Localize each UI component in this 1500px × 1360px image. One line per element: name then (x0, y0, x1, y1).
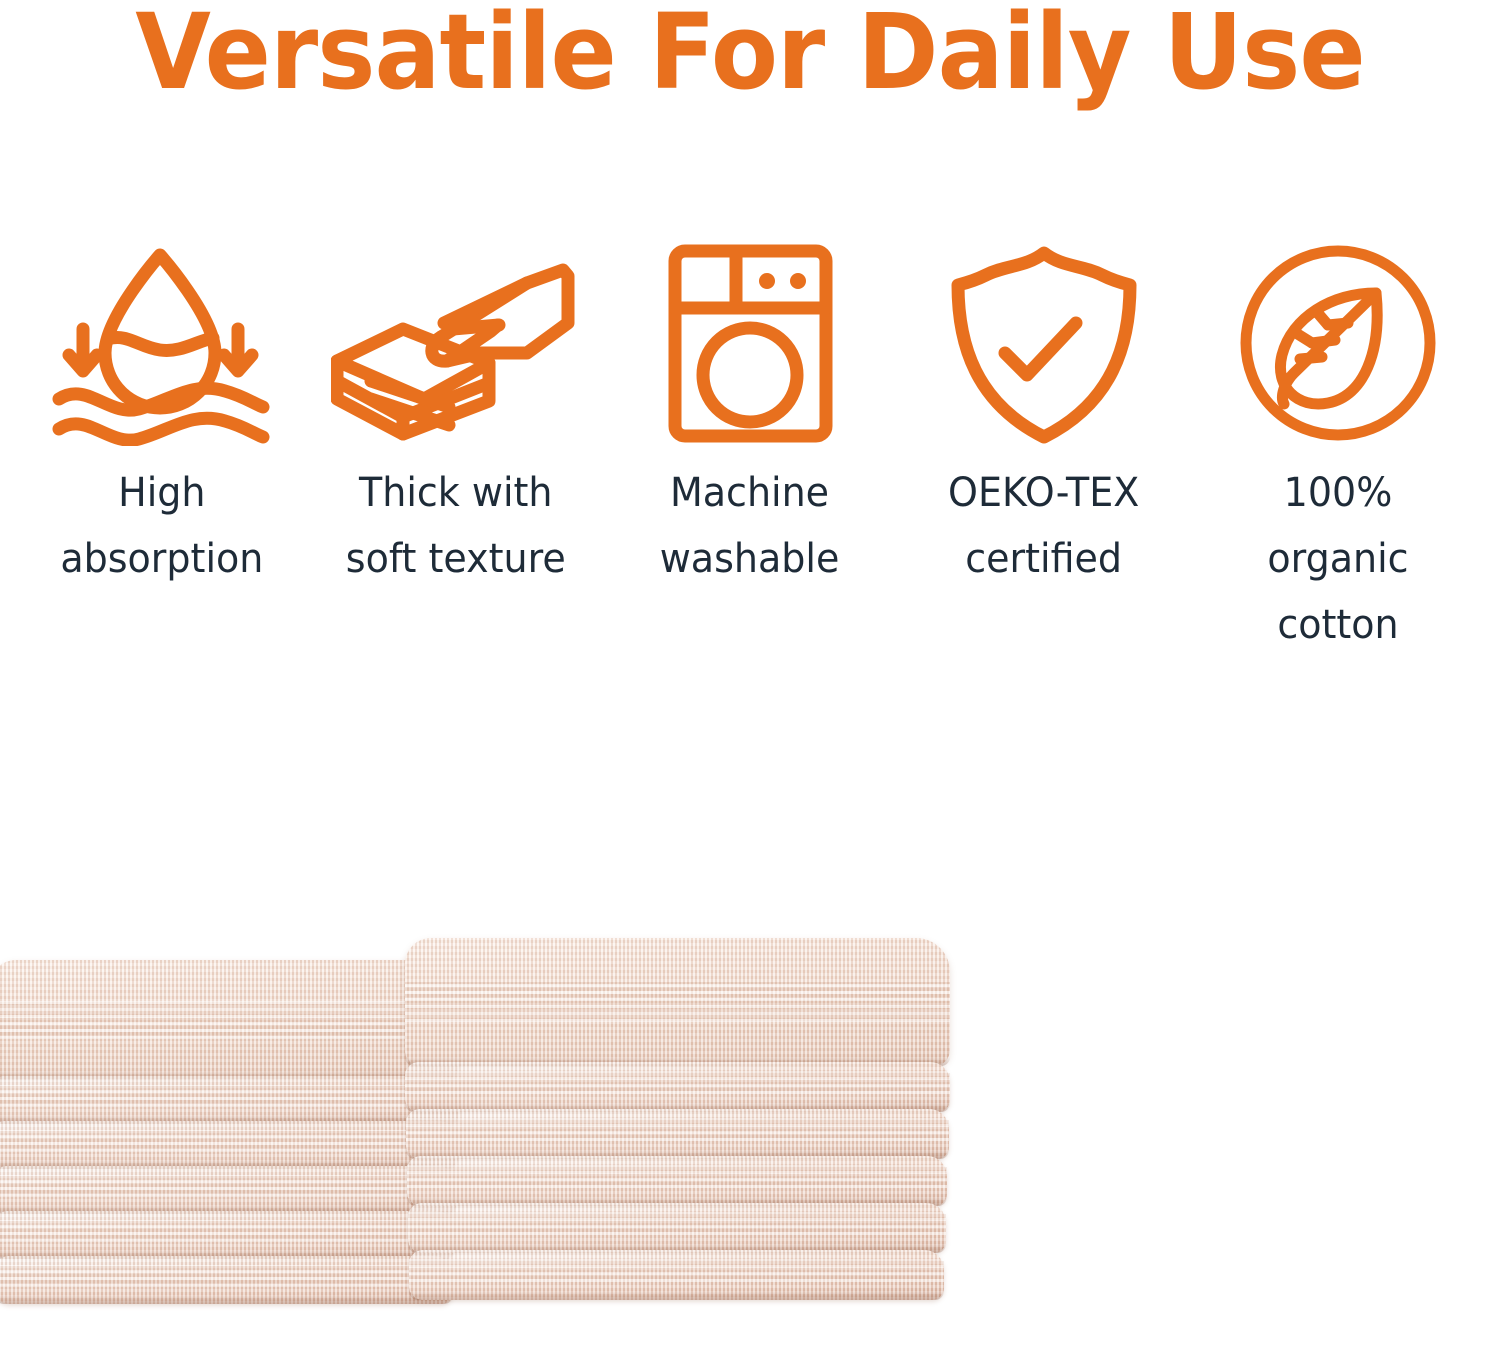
towel-dobby-band (405, 1071, 950, 1094)
towel-folded-layer (0, 1121, 458, 1169)
towel-stack-right (405, 938, 965, 1318)
feature-item-high-absorption: High absorption (22, 238, 302, 592)
towel-edge-shadow (0, 1295, 453, 1304)
towel-dobby-band (409, 1259, 944, 1282)
towel-folded-top (0, 960, 460, 1080)
feature-item-oeko-tex-certified: OEKO-TEX certified (904, 238, 1184, 592)
feature-label-line1: High (118, 470, 205, 516)
feature-list: High absorption (0, 238, 1500, 618)
towel-dobby-band (408, 1212, 946, 1235)
washing-machine-icon (663, 238, 838, 448)
page-title: Versatile For Daily Use (45, 0, 1455, 112)
leaf-in-circle-icon (1236, 238, 1441, 448)
towel-folded-layer (409, 1250, 944, 1300)
towel-edge-shadow (409, 1291, 944, 1300)
feature-label-line1: 100% organic (1267, 470, 1408, 582)
feature-item-machine-washable: Machine washable (610, 238, 890, 592)
towel-dobby-band (0, 1175, 457, 1197)
towel-folded-layer (0, 1256, 453, 1304)
feature-label-soft-texture: Thick with soft texture (346, 460, 566, 592)
feature-label-organic-cotton: 100% organic cotton (1210, 460, 1467, 658)
feature-label-line1: Machine (670, 470, 829, 516)
feature-label-high-absorption: High absorption (60, 460, 263, 592)
towel-folded-layer (407, 1156, 947, 1206)
feature-item-soft-texture: Thick with soft texture (316, 238, 596, 592)
towel-stack-left (0, 960, 460, 1320)
product-feature-panel: Versatile For Daily Use High absorption (0, 0, 1500, 1360)
towel-dobby-band (0, 1085, 460, 1107)
feature-label-line1: OEKO-TEX (948, 470, 1139, 516)
feature-label-line2: soft texture (346, 536, 566, 582)
towel-dobby-band (405, 982, 950, 1023)
product-photo: Made of durable cotton (0, 790, 1500, 1360)
feature-label-line2: certified (966, 536, 1123, 582)
feature-label-line2: washable (660, 536, 840, 582)
towel-dobby-band (0, 1130, 458, 1152)
feature-label-line2: absorption (60, 536, 263, 582)
towel-folded-layer (406, 1109, 949, 1159)
water-drop-absorption-icon (47, 238, 277, 448)
towel-folded-layer (0, 1166, 457, 1214)
feature-label-machine-washable: Machine washable (660, 460, 840, 592)
feature-label-oeko-tex-certified: OEKO-TEX certified (948, 460, 1139, 592)
towel-folded-top (405, 938, 950, 1066)
feature-label-line2: cotton (1277, 602, 1398, 648)
towel-folded-layer (0, 1076, 460, 1124)
towel-folded-layer (408, 1203, 946, 1253)
hand-on-folded-towels-icon (331, 238, 581, 448)
towel-dobby-band (0, 1220, 455, 1242)
feature-label-line1: Thick with (359, 470, 552, 516)
shield-check-icon (944, 238, 1144, 448)
towel-dobby-band (406, 1118, 949, 1141)
towel-folded-layer (0, 1211, 455, 1259)
towel-dobby-band (407, 1165, 947, 1188)
towel-folded-layer (405, 1062, 950, 1112)
feature-item-organic-cotton: 100% organic cotton (1198, 238, 1478, 658)
towel-dobby-band (0, 1265, 453, 1287)
towel-dobby-band (0, 1001, 460, 1039)
